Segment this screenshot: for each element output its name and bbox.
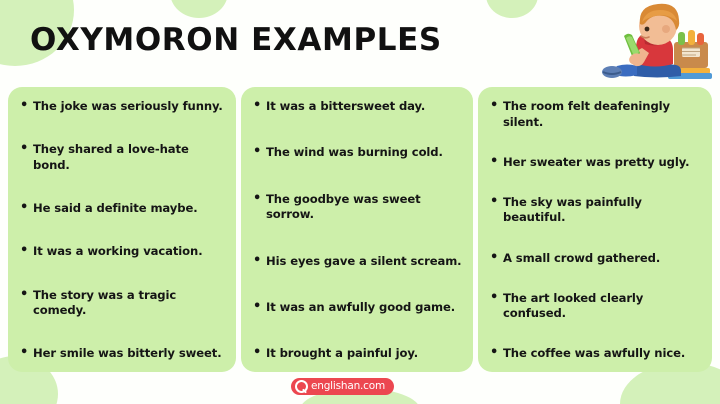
list-item: Her sweater was pretty ugly. [488,155,702,171]
poster: OXYMORON EXAMPLES [0,0,720,404]
decorative-blob-top-right [486,0,538,18]
column-1: The joke was seriously funny. They share… [8,87,236,372]
list-item: They shared a love-hate bond. [18,142,226,173]
decorative-blob-top-middle [170,0,228,18]
column-3: The room felt deafeningly silent. Her sw… [478,87,712,372]
list-item: A small crowd gathered. [488,251,702,267]
page-title: OXYMORON EXAMPLES [30,21,442,59]
magnifier-q-icon [295,380,308,393]
column-2: It was a bittersweet day. The wind was b… [241,87,473,372]
site-logo-label: englishan.com [311,381,385,392]
boy-reading-book-icon [590,2,716,82]
list-item: The wind was burning cold. [251,145,463,161]
list-item: It was an awfully good game. [251,300,463,316]
list-item: It brought a painful joy. [251,346,463,362]
site-logo[interactable]: englishan.com [291,378,394,395]
examples-columns: The joke was seriously funny. They share… [8,87,712,372]
list-item: It was a bittersweet day. [251,99,463,115]
list-item: It was a working vacation. [18,244,226,260]
list-item: The coffee was awfully nice. [488,346,702,362]
list-item: The goodbye was sweet sorrow. [251,192,463,223]
list-item: The story was a tragic comedy. [18,288,226,319]
list-item: Her smile was bitterly sweet. [18,346,226,362]
list-item: The art looked clearly confused. [488,291,702,322]
list-item: The room felt deafeningly silent. [488,99,702,130]
list-item: The sky was painfully beautiful. [488,195,702,226]
list-item: The joke was seriously funny. [18,99,226,115]
list-item: He said a definite maybe. [18,201,226,217]
list-item: His eyes gave a silent scream. [251,254,463,270]
